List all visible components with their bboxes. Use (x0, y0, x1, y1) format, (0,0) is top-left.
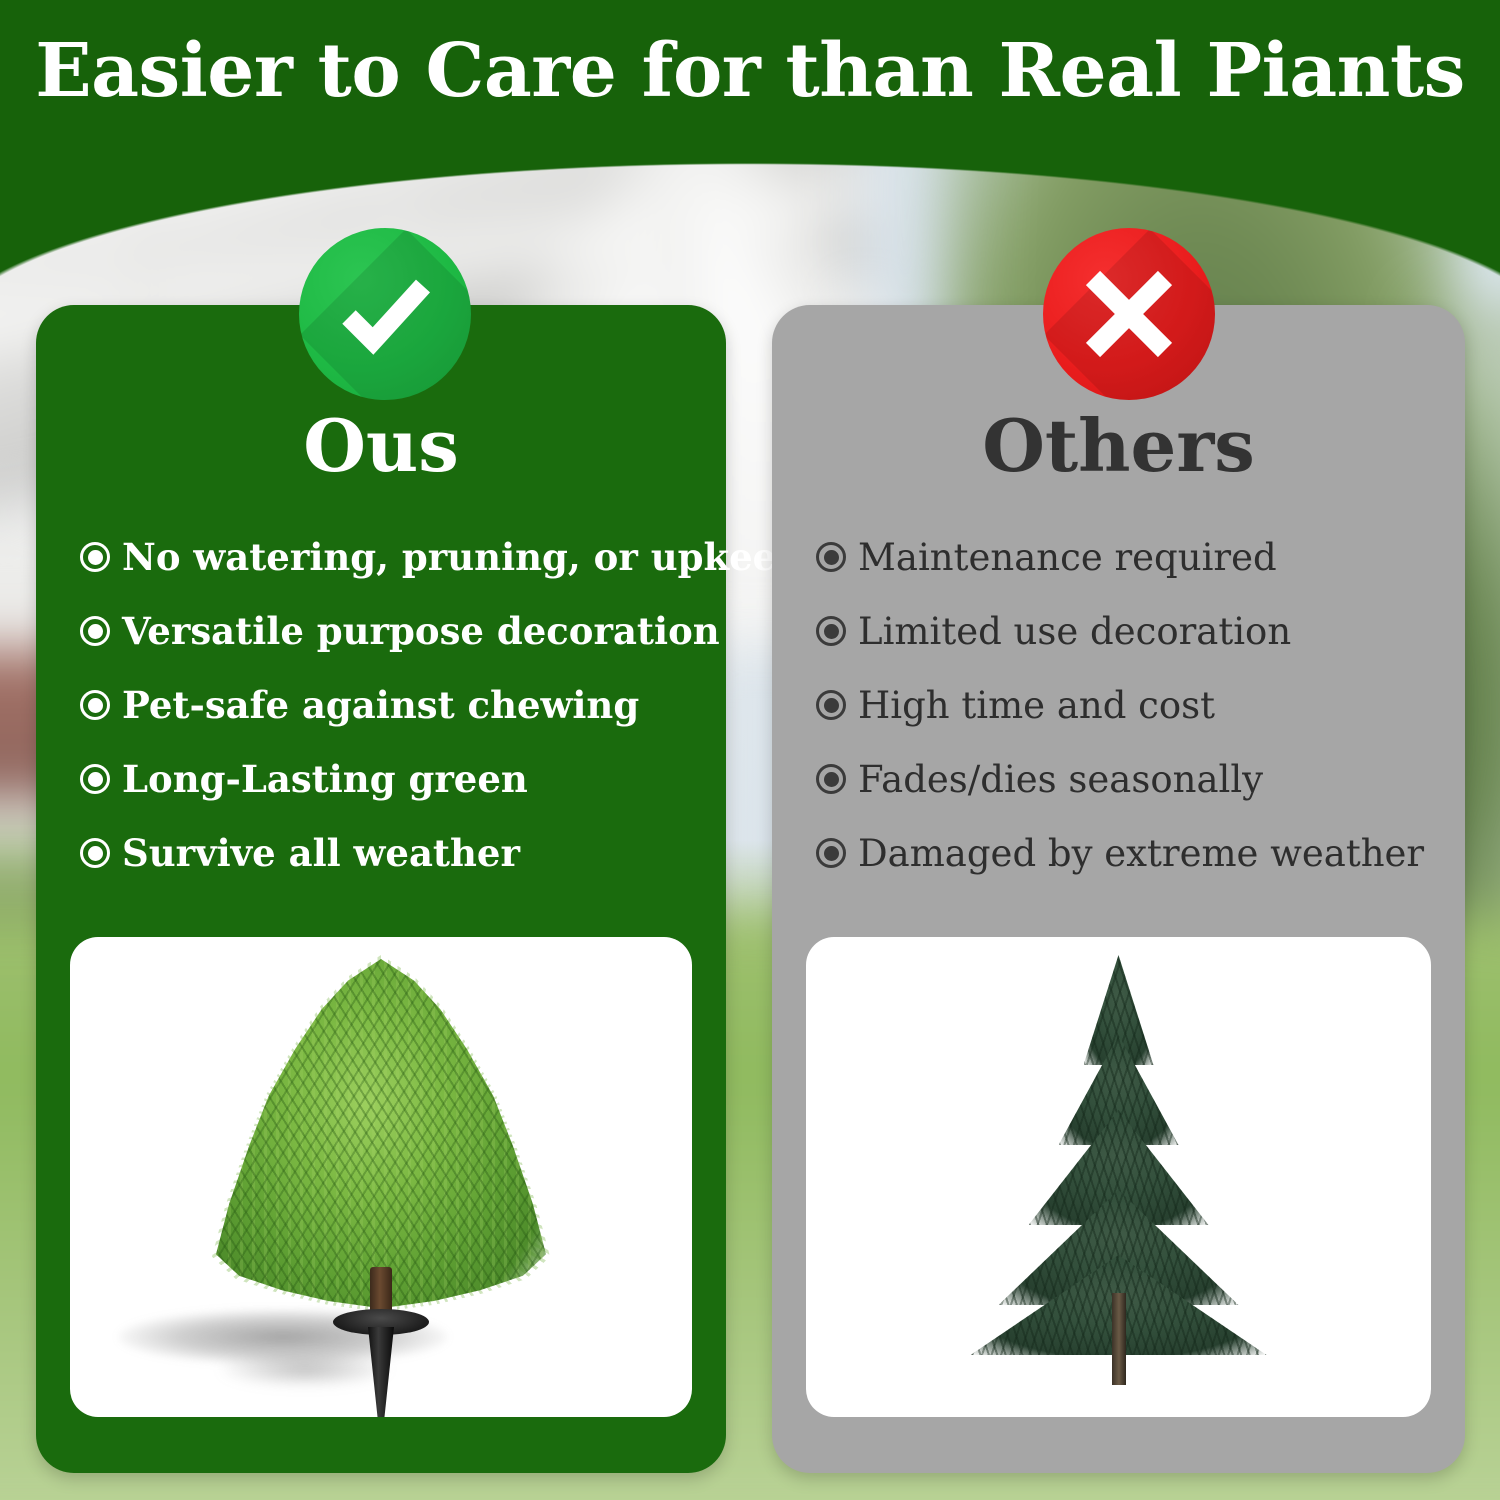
feature-label: Long-Lasting green (122, 761, 528, 798)
product-image-card-others: Tall dark green real spruce conifer tree… (806, 937, 1431, 1417)
radio-filled-icon (80, 764, 110, 794)
real-spruce-tree-image (969, 955, 1269, 1385)
shrub-foliage-texture (216, 959, 546, 1319)
conifer-trunk (1112, 1293, 1126, 1385)
feature-label: Pet-safe against chewing (122, 687, 639, 724)
product-image-card-ours: Artificial bushy green cypress shrub mou… (70, 937, 692, 1417)
cross-circle-icon (1043, 228, 1215, 400)
panel-ours-title: Ous (36, 410, 726, 482)
radio-filled-icon (80, 542, 110, 572)
comparison-infographic: Easier to Care for than Real Piants Ous … (0, 0, 1500, 1500)
panel-others-title: Others (772, 410, 1465, 482)
feature-label: No watering, pruning, or upkeep (122, 539, 802, 576)
list-item: Fades/dies seasonally (816, 742, 1465, 816)
radio-filled-icon (816, 542, 846, 572)
radio-filled-icon (816, 690, 846, 720)
list-item: Survive all weather (80, 816, 726, 890)
radio-filled-icon (816, 838, 846, 868)
panel-others: Others Maintenance required Limited use … (772, 305, 1465, 1473)
list-item: No watering, pruning, or upkeep (80, 520, 726, 594)
feature-label: Maintenance required (858, 539, 1277, 576)
feature-label: Survive all weather (122, 835, 520, 872)
page-title: Easier to Care for than Real Piants (0, 34, 1500, 108)
radio-filled-icon (80, 616, 110, 646)
list-item: Limited use decoration (816, 594, 1465, 668)
panel-ours: Ous No watering, pruning, or upkeep Vers… (36, 305, 726, 1473)
list-item: Maintenance required (816, 520, 1465, 594)
list-item: Pet-safe against chewing (80, 668, 726, 742)
feature-label: Fades/dies seasonally (858, 761, 1263, 798)
artificial-cypress-shrub-image (216, 959, 546, 1319)
list-item: High time and cost (816, 668, 1465, 742)
shrub-ground-shadow-soft (220, 1352, 390, 1386)
feature-label: Limited use decoration (858, 613, 1291, 650)
feature-label: Versatile purpose decoration (122, 613, 720, 650)
check-circle-icon (299, 228, 471, 400)
list-item: Long-Lasting green (80, 742, 726, 816)
list-item: Versatile purpose decoration (80, 594, 726, 668)
radio-filled-icon (816, 764, 846, 794)
radio-filled-icon (816, 616, 846, 646)
panel-others-feature-list: Maintenance required Limited use decorat… (772, 520, 1465, 890)
feature-label: Damaged by extreme weather (858, 835, 1424, 872)
radio-filled-icon (80, 838, 110, 868)
radio-filled-icon (80, 690, 110, 720)
feature-label: High time and cost (858, 687, 1215, 724)
panel-ours-feature-list: No watering, pruning, or upkeep Versatil… (36, 520, 726, 890)
list-item: Damaged by extreme weather (816, 816, 1465, 890)
